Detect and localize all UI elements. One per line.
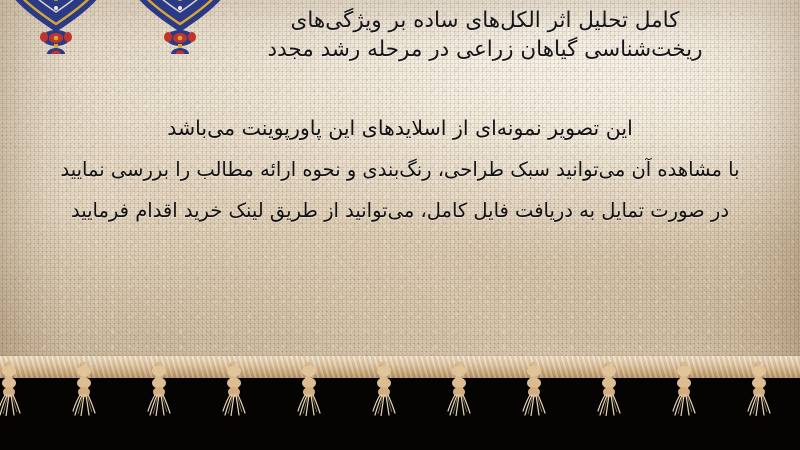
slide-title: کامل تحلیل اثر الکل‌های ساده بر ویژگی‌ها… bbox=[180, 6, 790, 64]
body-line-2: با مشاهده آن می‌توانید سبک طراحی، رنگ‌بن… bbox=[0, 149, 800, 190]
tassel bbox=[69, 362, 99, 416]
tassel bbox=[294, 362, 324, 416]
tassel bbox=[519, 362, 549, 416]
body-line-3: در صورت تمایل به دریافت فایل کامل، می‌تو… bbox=[0, 190, 800, 231]
persian-medallion-left-icon bbox=[0, 0, 116, 54]
tassel bbox=[594, 362, 624, 416]
tassel bbox=[744, 362, 774, 416]
tassel bbox=[144, 362, 174, 416]
slide-canvas: کامل تحلیل اثر الکل‌های ساده بر ویژگی‌ها… bbox=[0, 0, 800, 450]
tassel bbox=[444, 362, 474, 416]
title-line-1: کامل تحلیل اثر الکل‌های ساده بر ویژگی‌ها… bbox=[180, 6, 790, 35]
tassel bbox=[369, 362, 399, 416]
body-line-1: این تصویر نمونه‌ای از اسلایدهای این پاور… bbox=[0, 108, 800, 149]
tassel bbox=[0, 362, 24, 416]
tassel bbox=[669, 362, 699, 416]
slide-body: این تصویر نمونه‌ای از اسلایدهای این پاور… bbox=[0, 108, 800, 231]
tassel bbox=[219, 362, 249, 416]
title-line-2: ریخت‌شناسی گیاهان زراعی در مرحله رشد مجد… bbox=[180, 35, 790, 64]
